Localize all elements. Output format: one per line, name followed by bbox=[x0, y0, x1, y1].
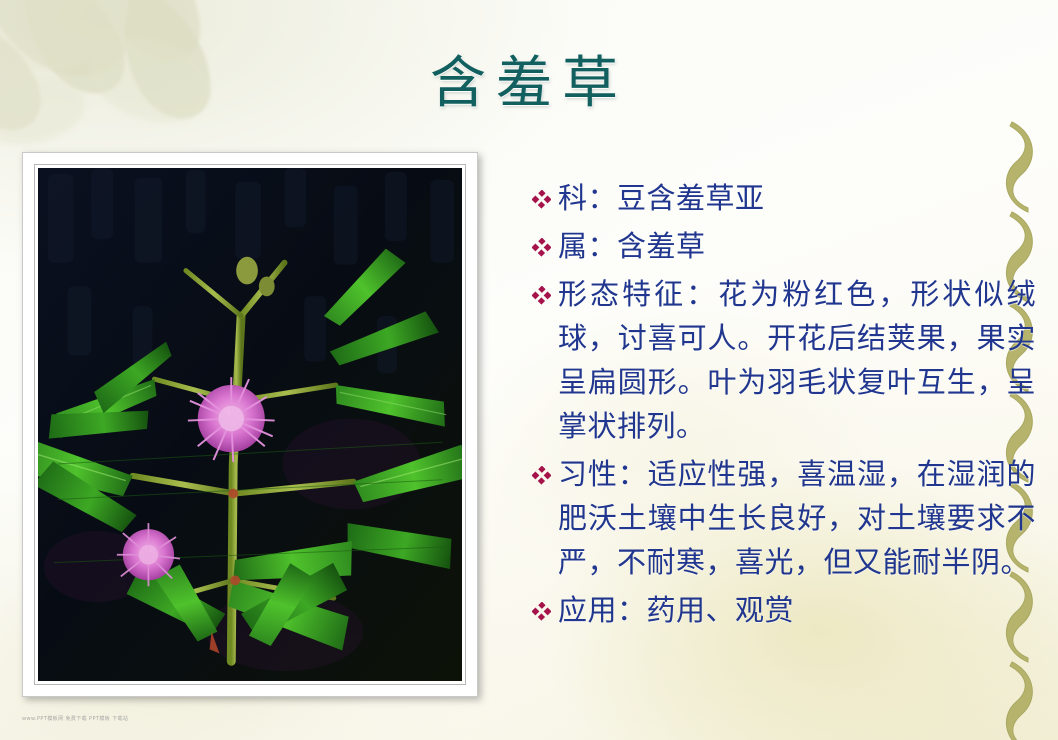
bullet-list: 科：豆含羞草亚 属：含羞草 bbox=[524, 176, 1036, 636]
mimosa-photo bbox=[38, 168, 462, 681]
slide-title: 含羞草 bbox=[0, 38, 1058, 119]
slide-canvas: 含羞草 bbox=[0, 0, 1058, 740]
bullet-item-habit: 习性：适应性强，喜温湿，在湿润的肥沃土壤中生长良好，对土壤要求不严，不耐寒，喜光… bbox=[524, 452, 1036, 584]
photo-frame bbox=[22, 152, 478, 697]
bullet-text: 形态特征：花为粉红色，形状似绒球，讨喜可人。开花后结荚果，果实呈扁圆形。叶为羽毛… bbox=[558, 272, 1036, 448]
bullet-text: 习性：适应性强，喜温湿，在湿润的肥沃土壤中生长良好，对土壤要求不严，不耐寒，喜光… bbox=[558, 452, 1036, 584]
diamond-cluster-icon bbox=[524, 452, 558, 485]
bullet-item-genus: 属：含羞草 bbox=[524, 224, 1036, 268]
bullet-text: 属：含羞草 bbox=[558, 224, 1036, 268]
bullet-item-family: 科：豆含羞草亚 bbox=[524, 176, 1036, 220]
bullet-text: 科：豆含羞草亚 bbox=[558, 176, 1036, 220]
bullet-text: 应用：药用、观赏 bbox=[558, 588, 1036, 632]
watermark-text: www.PPT模板网 免费下载 PPT模板 下载站 bbox=[22, 715, 128, 722]
diamond-cluster-icon bbox=[524, 272, 558, 305]
photo-mat bbox=[34, 164, 466, 685]
bullet-item-application: 应用：药用、观赏 bbox=[524, 588, 1036, 632]
diamond-cluster-icon bbox=[524, 588, 558, 621]
bullet-item-morphology: 形态特征：花为粉红色，形状似绒球，讨喜可人。开花后结荚果，果实呈扁圆形。叶为羽毛… bbox=[524, 272, 1036, 448]
diamond-cluster-icon bbox=[524, 224, 558, 257]
diamond-cluster-icon bbox=[524, 176, 558, 209]
mimosa-photo-illustration bbox=[38, 168, 462, 681]
